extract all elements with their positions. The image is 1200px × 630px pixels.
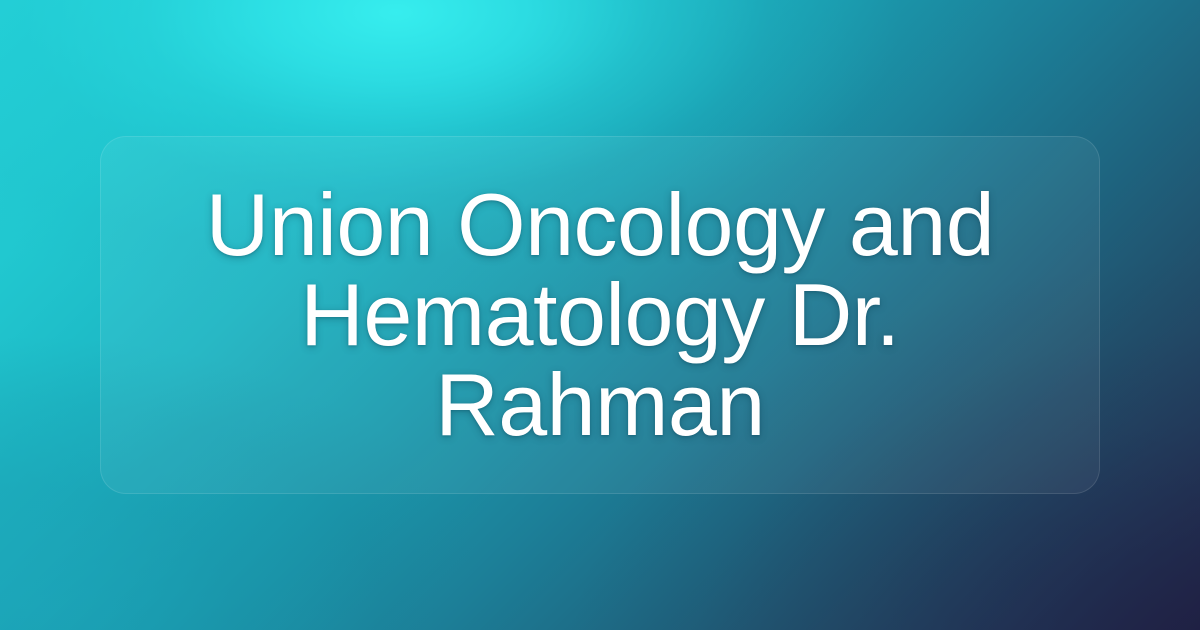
share-card-canvas: Union Oncology and Hematology Dr. Rahman — [0, 0, 1200, 630]
title-card-panel: Union Oncology and Hematology Dr. Rahman — [100, 136, 1100, 494]
page-title: Union Oncology and Hematology Dr. Rahman — [147, 180, 1053, 449]
